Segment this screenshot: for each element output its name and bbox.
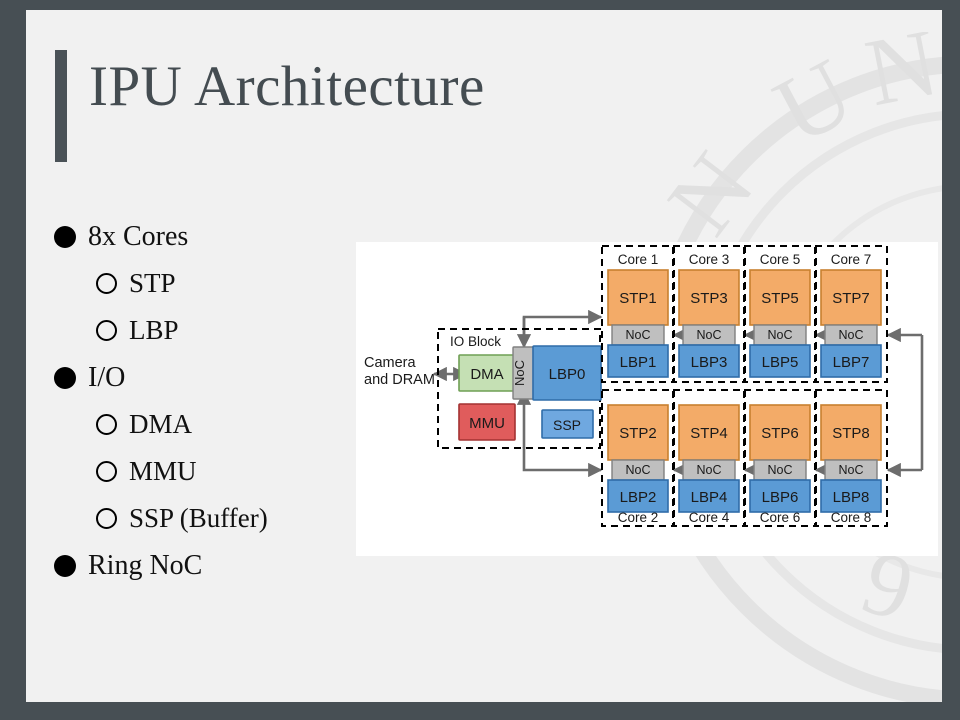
filled-bullet-icon <box>54 226 76 248</box>
io-noc-label: NoC <box>512 360 527 386</box>
svg-text:N UNI: N UNI <box>647 32 942 253</box>
core-7-name: Core 7 <box>831 252 872 267</box>
core-6-name: Core 6 <box>760 510 801 525</box>
slide-canvas: N UNI 1 9 0 IPU Architecture 8x Cores ST… <box>26 10 942 702</box>
hollow-bullet-icon <box>96 320 117 341</box>
bullet-item-mmu: MMU <box>54 448 374 495</box>
external-source-line1: Camera <box>364 355 417 371</box>
title-accent-bar <box>55 50 67 162</box>
lbp7-label: LBP7 <box>833 354 870 371</box>
core-7-noc-label: NoC <box>838 328 863 342</box>
lbp3-label: LBP3 <box>691 354 728 371</box>
lbp5-label: LBP5 <box>762 354 799 371</box>
dma-label: DMA <box>470 366 503 383</box>
hollow-bullet-icon <box>96 273 117 294</box>
core-3-group: Core 3 STP3 NoC LBP3 <box>673 246 745 382</box>
stp8-label: STP8 <box>832 425 870 442</box>
bullet-list: 8x Cores STP LBP I/O DMA MMU <box>54 213 374 589</box>
filled-bullet-icon <box>54 555 76 577</box>
bullet-label: 8x Cores <box>88 221 188 253</box>
stp1-label: STP1 <box>619 290 657 307</box>
bullet-item-lbp: LBP <box>54 307 374 354</box>
lbp8-label: LBP8 <box>833 489 870 506</box>
core-8-group: STP8 NoC LBP8 Core 8 <box>815 390 887 526</box>
lbp2-label: LBP2 <box>620 489 657 506</box>
lbp0-label: LBP0 <box>549 366 586 383</box>
core-5-group: Core 5 STP5 NoC LBP5 <box>744 246 816 382</box>
hollow-bullet-icon <box>96 461 117 482</box>
bullet-item-io: I/O <box>54 354 374 401</box>
bullet-label: I/O <box>88 362 125 394</box>
core-1-name: Core 1 <box>618 252 659 267</box>
core-7-group: Core 7 STP7 NoC LBP7 <box>815 246 887 382</box>
mmu-label: MMU <box>469 415 505 432</box>
filled-bullet-icon <box>54 367 76 389</box>
hollow-bullet-icon <box>96 508 117 529</box>
stp7-label: STP7 <box>832 290 870 307</box>
core-3-noc-label: NoC <box>696 328 721 342</box>
stp3-label: STP3 <box>690 290 728 307</box>
bullet-item-ssp: SSP (Buffer) <box>54 495 374 542</box>
core-2-group: STP2 NoC LBP2 Core 2 <box>602 390 674 526</box>
core-1-group: Core 1 STP1 NoC LBP1 <box>602 246 674 382</box>
bullet-label: DMA <box>129 409 192 440</box>
stp4-label: STP4 <box>690 425 728 442</box>
external-source-line2: and DRAM <box>364 372 435 388</box>
core-4-name: Core 4 <box>689 510 730 525</box>
core-2-name: Core 2 <box>618 510 659 525</box>
io-block-label: IO Block <box>450 334 501 349</box>
bullet-item-stp: STP <box>54 260 374 307</box>
core-5-noc-label: NoC <box>767 328 792 342</box>
ipu-architecture-diagram: Camera and DRAM IO Block DMA MMU NoC LBP… <box>356 242 938 556</box>
page-title: IPU Architecture <box>89 58 485 115</box>
core-8-name: Core 8 <box>831 510 872 525</box>
core-5-name: Core 5 <box>760 252 801 267</box>
core-3-name: Core 3 <box>689 252 730 267</box>
core-1-noc-label: NoC <box>625 328 650 342</box>
bullet-item-cores: 8x Cores <box>54 213 374 260</box>
core-6-group: STP6 NoC LBP6 Core 6 <box>744 390 816 526</box>
lbp6-label: LBP6 <box>762 489 799 506</box>
stp6-label: STP6 <box>761 425 799 442</box>
stp2-label: STP2 <box>619 425 657 442</box>
bullet-label: LBP <box>129 315 179 346</box>
lbp1-label: LBP1 <box>620 354 657 371</box>
bullet-label: MMU <box>129 456 197 487</box>
core-2-noc-label: NoC <box>625 463 650 477</box>
core-8-noc-label: NoC <box>838 463 863 477</box>
core-4-group: STP4 NoC LBP4 Core 4 <box>673 390 745 526</box>
lbp4-label: LBP4 <box>691 489 728 506</box>
bullet-label: Ring NoC <box>88 550 202 582</box>
core-4-noc-label: NoC <box>696 463 721 477</box>
stp5-label: STP5 <box>761 290 799 307</box>
ssp-label: SSP <box>553 417 581 433</box>
core-6-noc-label: NoC <box>767 463 792 477</box>
bullet-label: STP <box>129 268 176 299</box>
bullet-label: SSP (Buffer) <box>129 503 268 534</box>
slide-frame: N UNI 1 9 0 IPU Architecture 8x Cores ST… <box>0 0 960 720</box>
hollow-bullet-icon <box>96 414 117 435</box>
bullet-item-ring-noc: Ring NoC <box>54 542 374 589</box>
watermark-arc-text-top: N UNI <box>647 32 942 253</box>
bullet-item-dma: DMA <box>54 401 374 448</box>
